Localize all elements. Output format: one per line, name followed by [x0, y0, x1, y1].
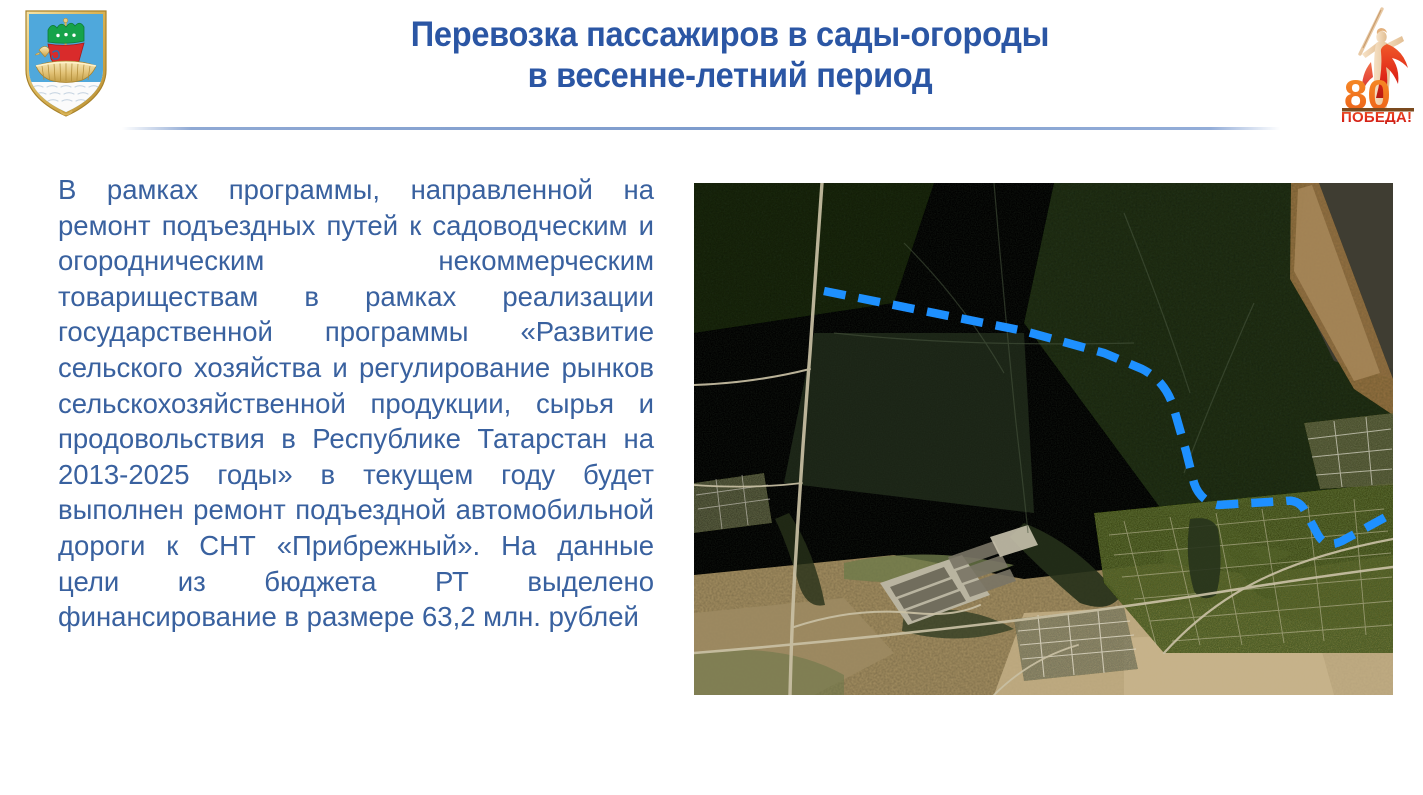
content-paragraph-block: В рамках программы, направленной на ремо…: [58, 172, 654, 635]
victory-logo-word: ПОБЕДА!: [1341, 109, 1412, 124]
slide-header: Перевозка пассажиров в сады-огороды в ве…: [0, 0, 1423, 145]
slide-root: Перевозка пассажиров в сады-огороды в ве…: [0, 0, 1423, 795]
header-divider: [122, 127, 1280, 130]
satellite-route-map: [694, 183, 1393, 695]
title-line-1: Перевозка пассажиров в сады-огороды: [237, 14, 1223, 55]
content-paragraph: В рамках программы, направленной на ремо…: [58, 172, 654, 635]
page-title: Перевозка пассажиров в сады-огороды в ве…: [200, 14, 1260, 96]
victory-80-logo-icon: 80 ПОБЕДА!: [1338, 4, 1418, 124]
title-line-2: в весенне-летний период: [237, 55, 1223, 96]
coat-of-arms-icon: [22, 8, 110, 120]
